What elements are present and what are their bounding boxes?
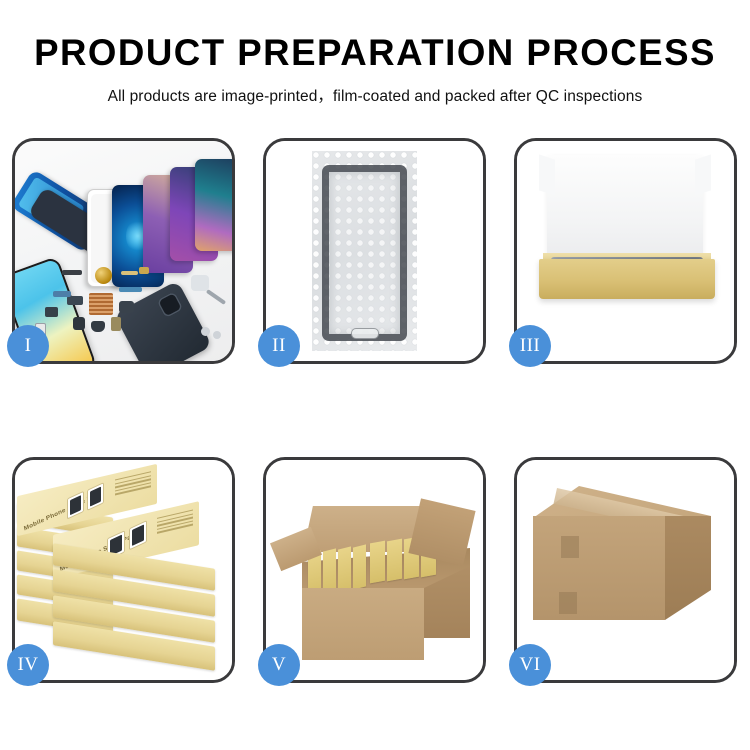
step-1-image (15, 141, 232, 361)
step-3-image (517, 141, 734, 361)
process-step-panel-4: Mobile Phone Spare Parts Mobile Phone Sp… (12, 457, 235, 683)
step-badge-2: II (258, 325, 300, 367)
bubble-wrap-icon (312, 151, 417, 351)
part-icon (111, 317, 121, 331)
page-title: PRODUCT PREPARATION PROCESS (4, 34, 747, 73)
step-2-image (266, 141, 483, 361)
box-thumbnail (129, 520, 147, 550)
wrapped-screen-icon (322, 165, 407, 341)
carton-front-icon (302, 588, 424, 660)
step-badge-5: V (258, 644, 300, 686)
phone-back-housing-icon (114, 280, 212, 361)
part-icon (62, 270, 82, 275)
process-step-panel-6: VI (514, 457, 737, 683)
screw-icon (213, 331, 221, 339)
kraft-box-base-icon (539, 259, 715, 299)
foam-lid-icon (547, 155, 703, 267)
box-spec-lines (115, 471, 151, 497)
step-badge-3: III (509, 325, 551, 367)
step-5-image (266, 460, 483, 680)
screw-icon (201, 327, 210, 336)
part-icon (67, 296, 83, 305)
process-step-panel-3: III (514, 138, 737, 364)
part-icon (53, 291, 71, 297)
step-badge-6: VI (509, 644, 551, 686)
part-icon (121, 271, 138, 275)
page-subtitle: All products are image-printed，film-coat… (0, 84, 750, 106)
step-badge-4: IV (7, 644, 49, 686)
process-step-panel-5: V (263, 457, 486, 683)
packed-box (370, 541, 385, 584)
packed-box (323, 548, 336, 593)
part-icon (119, 287, 142, 292)
box-spec-lines (157, 510, 193, 536)
part-icon (73, 317, 85, 330)
part-icon (119, 301, 134, 313)
process-step-panel-2: II (263, 138, 486, 364)
part-icon (91, 321, 105, 332)
box-stack: Mobile Phone Spare Parts Mobile Phone Sp… (15, 472, 232, 678)
speaker-coil-icon (95, 267, 112, 284)
part-icon (45, 307, 58, 317)
process-step-grid: I II III (12, 138, 738, 683)
packed-box (387, 539, 402, 582)
step-badge-1: I (7, 325, 49, 367)
gradient-display-screen-icon (195, 159, 232, 251)
header: PRODUCT PREPARATION PROCESS All products… (0, 0, 750, 106)
tape-tab-icon (559, 592, 577, 614)
packed-box (353, 544, 366, 589)
tape-tab-icon (561, 536, 579, 558)
carton-front-icon (533, 516, 665, 620)
part-icon (139, 267, 149, 274)
packed-box (338, 546, 351, 591)
tweezers-icon (206, 289, 226, 305)
carton-side-icon (665, 516, 711, 620)
step-4-image: Mobile Phone Spare Parts Mobile Phone Sp… (15, 460, 232, 680)
step-6-image (517, 460, 734, 680)
box-thumbnail (87, 482, 104, 511)
process-step-panel-1: I (12, 138, 235, 364)
product-preparation-infographic: PRODUCT PREPARATION PROCESS All products… (0, 0, 750, 750)
copper-grid-pad-icon (89, 293, 113, 315)
part-icon (191, 275, 209, 291)
box-thumbnail (67, 491, 84, 520)
